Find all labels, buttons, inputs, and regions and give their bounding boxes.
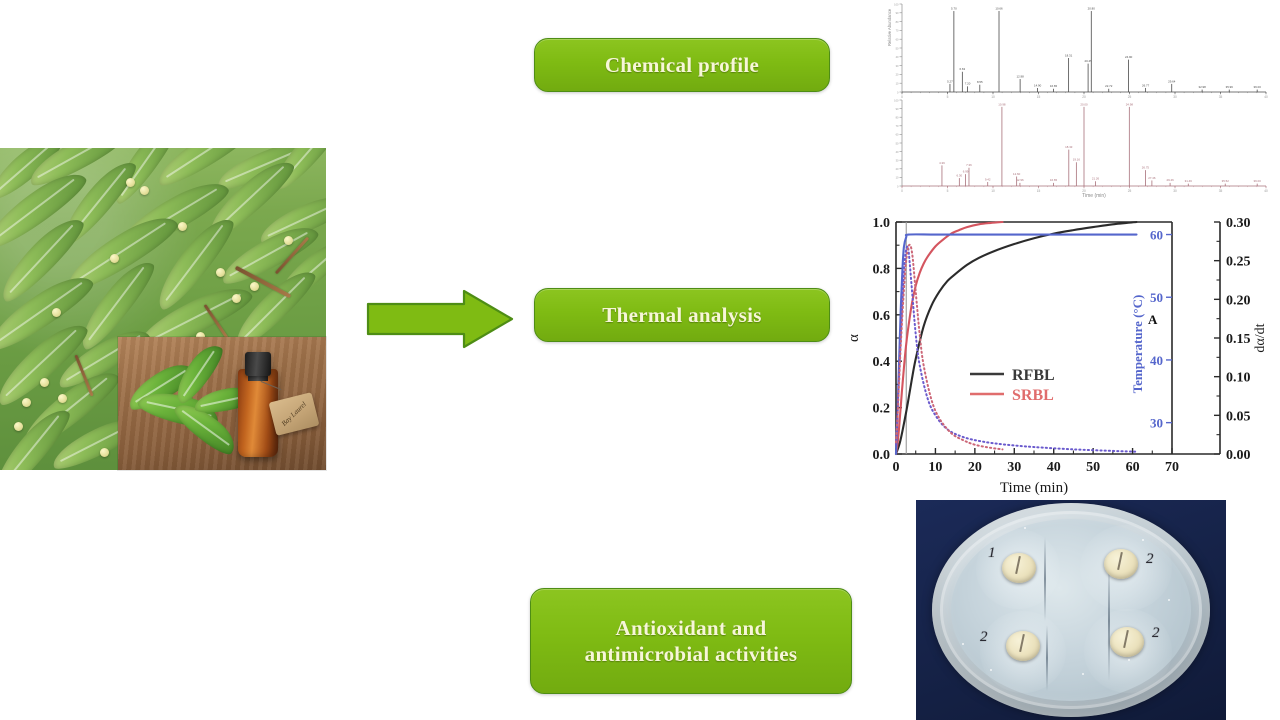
svg-text:26.75: 26.75 xyxy=(1142,166,1150,170)
svg-text:35: 35 xyxy=(1219,189,1223,193)
thermal-kinetics-figure: 010203040506070Time (min)0.00.20.40.60.8… xyxy=(842,206,1280,502)
antimicrobial-disc xyxy=(1006,631,1040,661)
svg-text:0.05: 0.05 xyxy=(1226,409,1251,424)
svg-text:60: 60 xyxy=(1126,460,1140,475)
svg-text:10: 10 xyxy=(896,82,899,86)
svg-text:50: 50 xyxy=(1150,290,1163,305)
svg-text:0: 0 xyxy=(901,189,903,193)
svg-text:8.55: 8.55 xyxy=(977,80,983,84)
svg-text:35: 35 xyxy=(1219,95,1223,99)
legend-label-srbl: SRBL xyxy=(1012,387,1054,404)
svg-text:40: 40 xyxy=(1150,353,1163,368)
svg-text:5: 5 xyxy=(947,95,949,99)
svg-text:35.96: 35.96 xyxy=(1226,85,1234,89)
callout-box-chemical-profile[interactable]: Chemical profile xyxy=(534,38,830,92)
svg-text:24.98: 24.98 xyxy=(1126,102,1134,106)
svg-text:0: 0 xyxy=(897,90,899,94)
svg-text:40: 40 xyxy=(1047,460,1061,475)
svg-text:0.30: 0.30 xyxy=(1226,216,1251,231)
svg-text:Temperature (°C): Temperature (°C) xyxy=(1130,295,1145,394)
callout-label-thermal-analysis: Thermal analysis xyxy=(602,302,761,328)
antimicrobial-disc xyxy=(1104,549,1138,579)
svg-text:29.46: 29.46 xyxy=(1166,178,1174,182)
arrow-right-icon xyxy=(366,288,514,350)
svg-text:9.42: 9.42 xyxy=(985,177,991,181)
svg-text:1.0: 1.0 xyxy=(873,216,891,231)
svg-text:27.46: 27.46 xyxy=(1148,176,1156,180)
svg-text:80: 80 xyxy=(896,116,899,120)
svg-text:0.15: 0.15 xyxy=(1226,332,1251,347)
svg-text:60: 60 xyxy=(896,133,899,137)
svg-text:0.2: 0.2 xyxy=(873,402,891,417)
svg-text:dα/dt: dα/dt xyxy=(1253,323,1268,352)
svg-text:5: 5 xyxy=(947,189,949,193)
svg-text:0.20: 0.20 xyxy=(1226,293,1251,308)
svg-text:50: 50 xyxy=(896,46,899,50)
hang-tag-text: Bay Laurel xyxy=(280,400,308,427)
svg-text:70: 70 xyxy=(896,29,899,33)
legend-label-rfbl: RFBL xyxy=(1012,367,1055,384)
svg-text:50: 50 xyxy=(1086,460,1100,475)
svg-text:100: 100 xyxy=(894,2,899,6)
svg-text:40: 40 xyxy=(896,150,899,154)
svg-text:30: 30 xyxy=(1173,189,1177,193)
svg-text:12.60: 12.60 xyxy=(1013,172,1021,176)
svg-text:60: 60 xyxy=(1150,228,1163,243)
svg-text:0.25: 0.25 xyxy=(1226,255,1251,270)
svg-text:60: 60 xyxy=(896,38,899,42)
svg-text:6.99: 6.99 xyxy=(963,170,969,174)
agar-streak xyxy=(1108,561,1110,681)
svg-text:0: 0 xyxy=(893,460,900,475)
svg-text:39.03: 39.03 xyxy=(1254,85,1262,89)
disc-annotation: 1 xyxy=(988,545,996,562)
disc-annotation: 2 xyxy=(1146,551,1154,568)
petri-dish: 1 2 2 2 xyxy=(932,503,1210,717)
gcms-chromatogram-figure: 010203040506070809010005101520253035405.… xyxy=(884,0,1276,200)
svg-text:100: 100 xyxy=(894,98,899,102)
svg-text:30: 30 xyxy=(896,64,899,68)
svg-text:70: 70 xyxy=(896,124,899,128)
thermal-series xyxy=(896,222,1137,454)
svg-text:25: 25 xyxy=(1128,95,1132,99)
svg-text:15: 15 xyxy=(1037,95,1041,99)
svg-text:10.66: 10.66 xyxy=(995,6,1003,10)
svg-text:0.0: 0.0 xyxy=(873,448,891,463)
disc-annotation: 2 xyxy=(1152,625,1160,642)
svg-text:30: 30 xyxy=(896,159,899,163)
callout-label-chemical-profile: Chemical profile xyxy=(605,52,759,78)
svg-text:22.72: 22.72 xyxy=(1105,84,1113,88)
svg-text:16.65: 16.65 xyxy=(1050,178,1058,182)
callout-box-antioxidant-antimicrobial[interactable]: Antioxidant and antimicrobial activities xyxy=(530,588,852,694)
svg-text:16.65: 16.65 xyxy=(1050,84,1058,88)
process-arrow xyxy=(366,288,514,350)
svg-text:19.16: 19.16 xyxy=(1073,158,1081,162)
chromatogram-x-axis-label: Time (min) xyxy=(1082,193,1106,199)
callout-box-thermal-analysis[interactable]: Thermal analysis xyxy=(534,288,830,342)
svg-text:10: 10 xyxy=(896,176,899,180)
svg-text:10.98: 10.98 xyxy=(998,102,1006,106)
svg-text:30: 30 xyxy=(1007,460,1021,475)
svg-text:10: 10 xyxy=(928,460,942,475)
svg-text:Time (min): Time (min) xyxy=(1000,480,1068,496)
series-srbl-rate xyxy=(896,245,1002,450)
antimicrobial-disc xyxy=(1110,627,1144,657)
svg-text:7.36: 7.36 xyxy=(966,163,972,167)
svg-text:40: 40 xyxy=(896,55,899,59)
svg-text:20: 20 xyxy=(896,167,899,171)
svg-text:0.4: 0.4 xyxy=(873,355,891,370)
svg-text:21.26: 21.26 xyxy=(1092,177,1100,181)
gcms-chromatogram-svg: 010203040506070809010005101520253035405.… xyxy=(884,0,1276,200)
petri-dish-rim xyxy=(940,511,1202,709)
agar-streak xyxy=(1044,537,1046,621)
svg-text:90: 90 xyxy=(896,11,899,15)
agar-streak xyxy=(1046,625,1048,691)
svg-text:32.98: 32.98 xyxy=(1199,85,1207,89)
callout-label-antioxidant-antimicrobial: Antioxidant and antimicrobial activities xyxy=(585,615,798,668)
essential-oil-bottle-photo: Bay Laurel xyxy=(118,337,326,470)
graphical-abstract-canvas: Bay Laurel Chemical profile Thermal anal… xyxy=(0,0,1280,720)
svg-text:4.39: 4.39 xyxy=(939,161,945,165)
svg-text:7.20: 7.20 xyxy=(965,82,971,86)
svg-text:30: 30 xyxy=(1173,95,1177,99)
lower-chromatogram-trace: 010203040506070809010005101520253035404.… xyxy=(894,98,1268,193)
upper-chromatogram-trace: 010203040506070809010005101520253035405.… xyxy=(894,2,1268,99)
svg-text:0.8: 0.8 xyxy=(873,262,891,277)
svg-text:18.33: 18.33 xyxy=(1065,145,1073,149)
svg-text:0: 0 xyxy=(901,95,903,99)
svg-text:10: 10 xyxy=(991,95,995,99)
svg-text:20.80: 20.80 xyxy=(1088,6,1096,10)
svg-text:24.90: 24.90 xyxy=(1125,55,1133,59)
svg-text:39.03: 39.03 xyxy=(1254,179,1262,183)
svg-text:29.64: 29.64 xyxy=(1168,79,1176,83)
bottle-cap xyxy=(245,352,271,376)
thermal-legend: RFBLSRBL xyxy=(970,367,1055,404)
svg-text:15: 15 xyxy=(1037,189,1041,193)
svg-text:14.90: 14.90 xyxy=(1034,83,1042,87)
svg-text:20.00: 20.00 xyxy=(1080,102,1088,106)
svg-text:5.70: 5.70 xyxy=(951,6,957,10)
svg-text:80: 80 xyxy=(896,20,899,24)
series-rfbl xyxy=(896,222,1137,454)
svg-text:40: 40 xyxy=(1264,189,1268,193)
svg-text:20: 20 xyxy=(896,73,899,77)
svg-text:α: α xyxy=(846,334,862,342)
antimicrobial-disc xyxy=(1002,553,1036,583)
svg-text:20: 20 xyxy=(1082,95,1086,99)
svg-text:30: 30 xyxy=(1150,416,1163,431)
svg-text:6.30: 6.30 xyxy=(957,173,963,177)
svg-text:50: 50 xyxy=(896,141,899,145)
svg-text:25: 25 xyxy=(1128,189,1132,193)
thermal-kinetics-svg: 010203040506070Time (min)0.00.20.40.60.8… xyxy=(842,206,1280,502)
svg-text:18.31: 18.31 xyxy=(1065,53,1073,57)
svg-text:0: 0 xyxy=(897,184,899,188)
svg-text:0.10: 0.10 xyxy=(1226,371,1251,386)
svg-text:0.00: 0.00 xyxy=(1226,448,1251,463)
svg-text:40: 40 xyxy=(1264,95,1268,99)
panel-label-A: A xyxy=(1148,312,1158,327)
svg-text:20: 20 xyxy=(968,460,982,475)
svg-text:0.6: 0.6 xyxy=(873,309,891,324)
series-rfbl-rate xyxy=(896,246,1137,451)
svg-text:70: 70 xyxy=(1165,460,1179,475)
svg-text:6.63: 6.63 xyxy=(960,67,966,71)
svg-text:10: 10 xyxy=(991,189,995,193)
svg-text:31.46: 31.46 xyxy=(1185,179,1193,183)
svg-text:12.96: 12.96 xyxy=(1016,178,1024,182)
disc-annotation: 2 xyxy=(980,629,988,646)
series-temperature xyxy=(896,234,1137,454)
svg-text:90: 90 xyxy=(896,107,899,111)
chromatogram-y-axis-label: Relative Abundance xyxy=(887,8,892,46)
svg-text:12.98: 12.98 xyxy=(1017,74,1025,78)
svg-text:26.77: 26.77 xyxy=(1142,83,1150,87)
callout-label-line-2: antimicrobial activities xyxy=(585,642,798,666)
petri-dish-photo: 1 2 2 2 xyxy=(916,500,1226,720)
svg-text:5.27: 5.27 xyxy=(947,79,953,83)
callout-label-line-1: Antioxidant and xyxy=(616,616,767,640)
svg-text:35.52: 35.52 xyxy=(1222,179,1230,183)
